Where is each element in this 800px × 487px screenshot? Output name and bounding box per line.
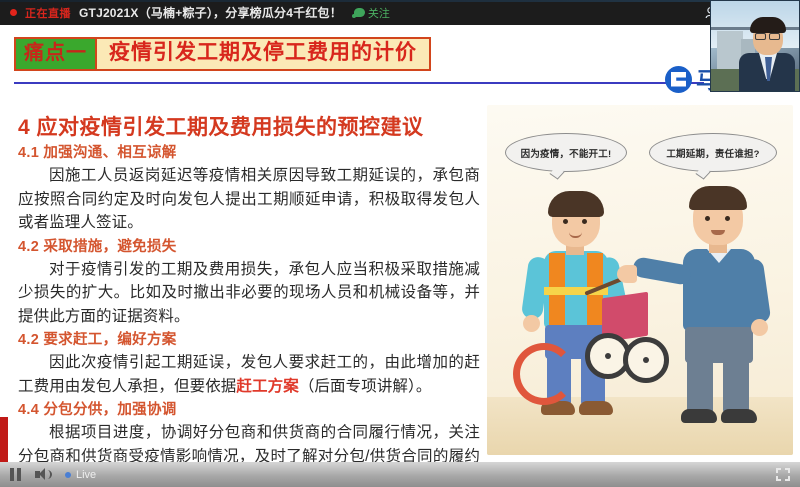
section-4-3-heading: 4.2 要求赶工，编好方案 xyxy=(18,330,480,351)
live-indicator-dot xyxy=(65,472,71,478)
follow-button-label: 关注 xyxy=(368,5,390,21)
employer-hair xyxy=(689,186,747,210)
fullscreen-corner-bl xyxy=(776,476,781,481)
employer-figure xyxy=(655,191,785,431)
live-status-dot xyxy=(10,9,17,16)
slide-accent-strip xyxy=(0,417,8,462)
presenter-person xyxy=(739,17,795,91)
banner-title-label: 疫情引发工期及停工费用的计价 xyxy=(97,37,431,71)
worker-hand-left xyxy=(523,315,540,332)
banner-underline xyxy=(14,82,704,84)
volume-icon xyxy=(35,468,51,481)
section-4-3-highlight: 赶工方案 xyxy=(236,378,298,395)
employer-hand-right xyxy=(751,319,768,336)
employer-eye-right xyxy=(725,216,730,221)
presenter-glasses-right xyxy=(769,33,780,40)
section-4-2-body: 对于疫情引发的工期及费用损失，承包人应当积极采取措施减少损失的扩大。比如及时撤出… xyxy=(18,258,480,329)
worker-hose-coil xyxy=(513,343,575,405)
speech-bubble-left: 因为疫情，不能开工! xyxy=(505,133,627,172)
speech-bubble-right: 工期延期，责任谁担? xyxy=(649,133,777,172)
employer-leg-left xyxy=(687,357,713,413)
volume-wave xyxy=(46,470,52,479)
section-4-2: 4.2 采取措施，避免损失 对于疫情引发的工期及费用损失，承包人应当积极采取措施… xyxy=(18,237,480,329)
fullscreen-corner-tl xyxy=(776,468,781,473)
player-control-bar: Live xyxy=(0,462,800,487)
worker-eye-left xyxy=(563,219,568,224)
worker-shoe-right xyxy=(579,401,613,415)
slide-main-heading: 4 应对疫情引发工期及费用损失的预控建议 xyxy=(18,111,424,141)
fullscreen-button[interactable] xyxy=(776,468,790,481)
section-4-4-body: 根据项目进度，协调好分包商和供货商的合同履行情况，关注分包商和供货商受疫情影响情… xyxy=(18,421,480,462)
follow-heart-icon xyxy=(354,8,365,17)
slide-body-text: 4.1 加强沟通、相互谅解 因施工人员返岗延迟等疫情相关原因导致工期延误的，承包… xyxy=(18,143,480,462)
banner-tag-label: 痛点一 xyxy=(14,37,97,71)
volume-button[interactable] xyxy=(35,468,51,481)
employer-shoe-left xyxy=(681,409,717,423)
employer-shoe-right xyxy=(721,409,757,423)
slide-banner: 痛点一 疫情引发工期及停工费用的计价 xyxy=(14,37,431,71)
brand-logo-icon xyxy=(665,66,692,93)
employer-pointing-hand xyxy=(617,265,637,283)
pause-icon xyxy=(10,468,21,481)
fullscreen-corner-tr xyxy=(785,468,790,473)
section-4-4-heading: 4.4 分包分供，加强协调 xyxy=(18,400,480,421)
section-4-3-body: 因此次疫情引起工期延误，发包人要求赶工的，由此增加的赶工费用由发包人承担，但要依… xyxy=(18,351,480,398)
slide-illustration: 因为疫情，不能开工! 工期延期，责任谁担? xyxy=(487,105,793,455)
section-4-3-body-post: （后面专项讲解）。 xyxy=(299,378,432,395)
presentation-slide: 痛点一 疫情引发工期及停工费用的计价 马楠 4 应对疫情引发工期及费用损失的预控… xyxy=(0,25,800,462)
employer-leg-right xyxy=(723,357,749,413)
fullscreen-corner-br xyxy=(785,476,790,481)
section-4-1: 4.1 加强沟通、相互谅解 因施工人员返岗延迟等疫情相关原因导致工期延误的，承包… xyxy=(18,143,480,235)
employer-eye-left xyxy=(705,216,710,221)
live-stream-player: 正在直播 GTJ2021X（马楠+粽子），分享榜瓜分4千红包！ 关注 14531… xyxy=(0,0,800,487)
stream-title: GTJ2021X（马楠+粽子），分享榜瓜分4千红包！ xyxy=(79,4,342,21)
worker-hair xyxy=(548,191,604,217)
section-4-1-body: 因施工人员返岗延迟等疫情相关原因导致工期延误的，承包商应按照合同约定及时向发包人… xyxy=(18,164,480,235)
stream-top-bar: 正在直播 GTJ2021X（马楠+粽子），分享榜瓜分4千红包！ 关注 14531… xyxy=(0,0,800,25)
worker-eye-right xyxy=(582,219,587,224)
section-4-4: 4.4 分包分供，加强协调 根据项目进度，协调好分包商和供货商的合同履行情况，关… xyxy=(18,400,480,462)
section-4-3: 4.2 要求赶工，编好方案 因此次疫情引起工期延误，发包人要求赶工的，由此增加的… xyxy=(18,330,480,398)
presenter-glasses-left xyxy=(755,33,766,40)
live-badge-label: 正在直播 xyxy=(25,5,71,21)
follow-button[interactable]: 关注 xyxy=(354,5,390,21)
presenter-webcam-overlay[interactable] xyxy=(710,0,800,92)
live-indicator[interactable]: Live xyxy=(65,469,96,481)
pause-button[interactable] xyxy=(10,468,21,481)
section-4-2-heading: 4.2 采取措施，避免损失 xyxy=(18,237,480,258)
presenter-hair xyxy=(750,17,786,33)
section-4-1-heading: 4.1 加强沟通、相互谅解 xyxy=(18,143,480,164)
live-indicator-label: Live xyxy=(76,469,96,481)
